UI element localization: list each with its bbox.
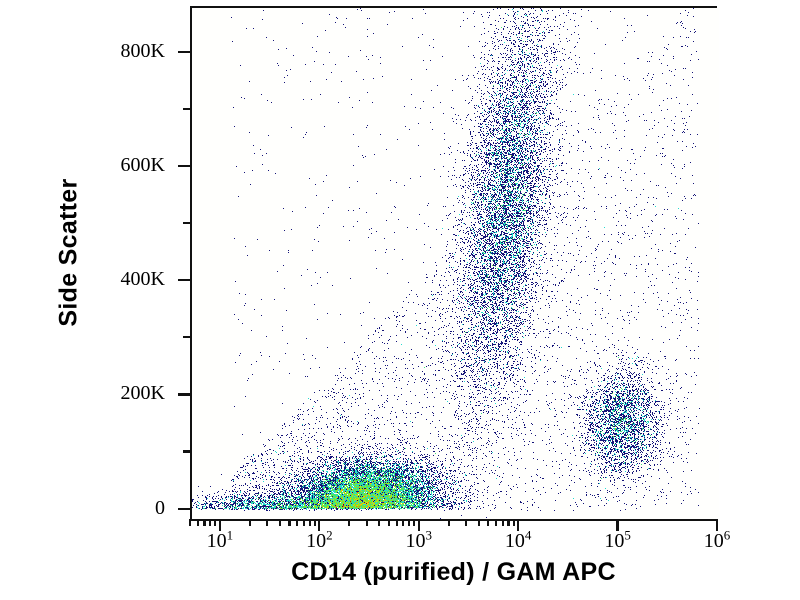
x-tick-minor xyxy=(378,519,380,526)
x-tick-minor xyxy=(448,519,450,526)
x-tick-minor xyxy=(478,519,480,526)
y-axis-title: Side Scatter xyxy=(55,43,84,463)
plot-area xyxy=(190,6,717,519)
y-tick-minor xyxy=(183,450,190,452)
flow-cytometry-figure: 0200K400K600K800K 101102103104105106 CD1… xyxy=(0,0,800,600)
x-tick-minor xyxy=(296,519,298,526)
x-tick-minor xyxy=(502,519,504,526)
y-tick-label: 200K xyxy=(121,383,165,403)
x-tick-minor xyxy=(495,519,497,526)
x-tick-minor xyxy=(513,519,515,526)
x-tick-minor xyxy=(197,519,199,526)
y-tick-minor xyxy=(183,222,190,224)
x-tick-label: 104 xyxy=(505,531,532,551)
x-tick-minor xyxy=(189,519,191,526)
x-tick-minor xyxy=(366,519,368,526)
y-tick-label: 800K xyxy=(121,41,165,61)
y-tick-minor xyxy=(183,336,190,338)
x-tick-minor xyxy=(266,519,268,526)
y-tick-label: 600K xyxy=(121,155,165,175)
y-tick-major xyxy=(178,279,190,281)
x-tick-minor xyxy=(288,519,290,526)
x-axis-line xyxy=(190,519,717,521)
x-tick-label: 106 xyxy=(704,531,731,551)
y-tick-major xyxy=(178,51,190,53)
x-tick-minor xyxy=(408,519,410,526)
x-tick-minor xyxy=(396,519,398,526)
y-tick-major xyxy=(178,393,190,395)
y-tick-label: 0 xyxy=(155,498,165,518)
x-tick-minor xyxy=(507,519,509,526)
x-tick-label: 101 xyxy=(207,531,234,551)
x-tick-minor xyxy=(279,519,281,526)
x-tick-minor xyxy=(487,519,489,526)
x-tick-minor xyxy=(303,519,305,526)
x-tick-minor xyxy=(249,519,251,526)
y-tick-major xyxy=(178,165,190,167)
x-tick-label: 103 xyxy=(406,531,433,551)
x-tick-minor xyxy=(203,519,205,526)
y-tick-label: 400K xyxy=(121,269,165,289)
x-tick-minor xyxy=(309,519,311,526)
x-tick-label: 102 xyxy=(306,531,333,551)
y-tick-minor xyxy=(183,108,190,110)
x-tick-minor xyxy=(388,519,390,526)
x-tick-label: 105 xyxy=(604,531,631,551)
x-tick-minor xyxy=(348,519,350,526)
x-tick-minor xyxy=(209,519,211,526)
density-scatter-canvas xyxy=(192,8,719,521)
x-tick-minor xyxy=(402,519,404,526)
y-tick-major xyxy=(178,508,190,510)
x-tick-minor xyxy=(465,519,467,526)
x-tick-minor xyxy=(314,519,316,526)
x-tick-minor xyxy=(413,519,415,526)
x-tick-minor xyxy=(214,519,216,526)
x-axis-title: CD14 (purified) / GAM APC xyxy=(190,558,717,587)
